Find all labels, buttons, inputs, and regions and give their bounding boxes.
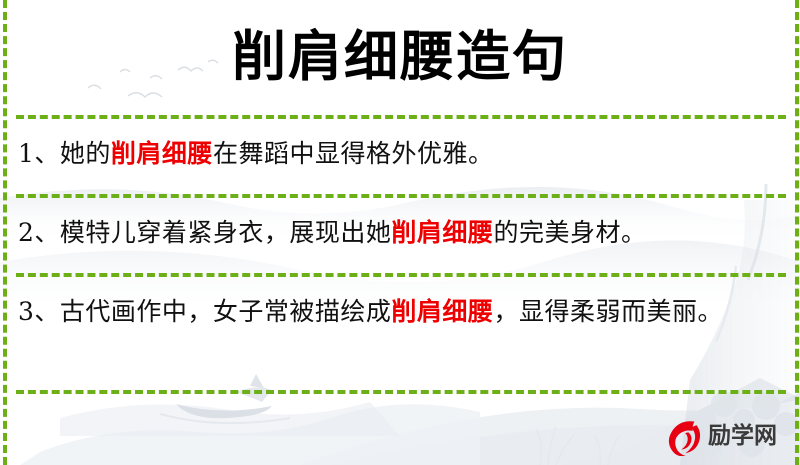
sentence-text-before: 模特儿穿着紧身衣，展现出她 <box>60 218 392 247</box>
separator-4 <box>16 390 786 394</box>
idiom-highlight: 削肩细腰 <box>391 297 493 326</box>
page-title: 削肩细腰造句 <box>0 22 800 90</box>
idiom-highlight: 削肩细腰 <box>111 139 213 168</box>
sentence-number: 2、 <box>18 218 60 247</box>
site-logo[interactable]: 励学网 <box>664 414 786 458</box>
sentence-text-after: 的完美身材。 <box>493 218 646 247</box>
idiom-highlight: 削肩细腰 <box>391 218 493 247</box>
boat-watermark <box>160 374 290 423</box>
example-sentence-2: 2、模特儿穿着紧身衣，展现出她削肩细腰的完美身材。 <box>18 212 776 254</box>
sentence-text-after: ，显得柔弱而美丽。 <box>493 297 723 326</box>
sentence-text-before: 她的 <box>60 139 111 168</box>
worksheet-page: 削肩细腰造句 1、她的削肩细腰在舞蹈中显得格外优雅。 2、模特儿穿着紧身衣，展现… <box>0 0 800 465</box>
sentence-number: 1、 <box>18 139 60 168</box>
example-sentence-3: 3、古代画作中，女子常被描绘成削肩细腰，显得柔弱而美丽。 <box>18 291 776 333</box>
sentence-text-after: 在舞蹈中显得格外优雅。 <box>213 139 494 168</box>
separator-2 <box>16 194 786 198</box>
red-flame-swirl-icon <box>664 416 704 456</box>
separator-3 <box>16 273 786 277</box>
example-sentence-1: 1、她的削肩细腰在舞蹈中显得格外优雅。 <box>18 133 776 175</box>
water-watermark <box>20 404 480 465</box>
reeds-watermark <box>536 427 620 465</box>
sentence-text-before: 古代画作中，女子常被描绘成 <box>60 297 392 326</box>
separator-1 <box>16 115 786 119</box>
logo-brand-text: 励学网 <box>708 423 777 449</box>
sentence-number: 3、 <box>18 297 60 326</box>
